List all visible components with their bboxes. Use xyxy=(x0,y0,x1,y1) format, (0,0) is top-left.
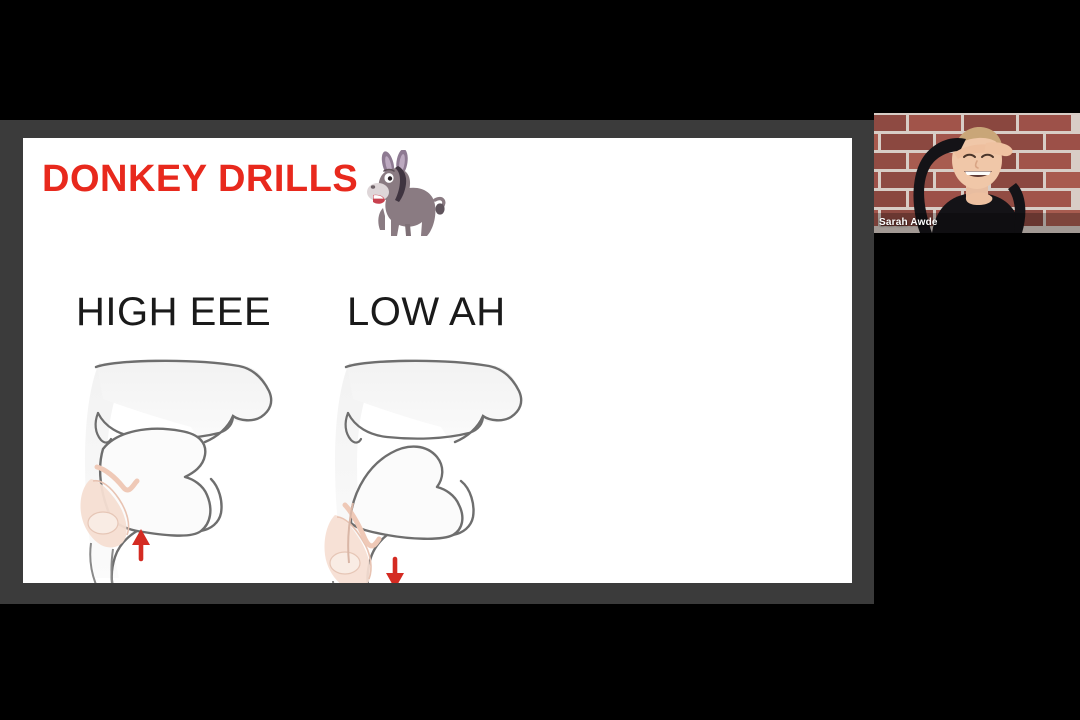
participant-name-label: Sarah Awde xyxy=(879,217,938,228)
video-call-stage: DONKEY DRILLS xyxy=(0,0,1080,720)
participant-video-tile[interactable]: Sarah Awde xyxy=(874,113,1080,233)
vowel-label-low-ah: LOW AH xyxy=(347,290,506,335)
presentation-slide: DONKEY DRILLS xyxy=(23,138,852,583)
shared-screen-frame: DONKEY DRILLS xyxy=(0,120,874,604)
vowel-label-high-eee: HIGH EEE xyxy=(76,290,271,335)
slide-title: DONKEY DRILLS xyxy=(42,158,358,201)
webcam-video-feed xyxy=(874,113,1080,233)
vocal-tract-high-eee-diagram xyxy=(41,353,301,583)
donkey-icon xyxy=(361,150,447,242)
vocal-tract-low-ah-diagram xyxy=(291,353,551,583)
